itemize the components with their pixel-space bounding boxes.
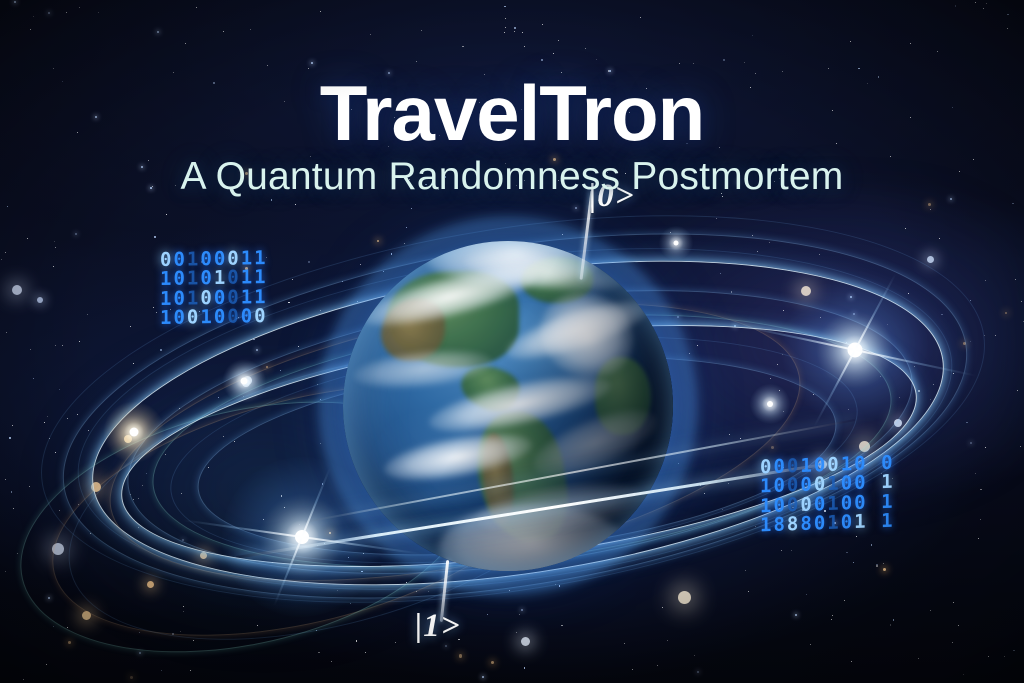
binary-digit: 8	[787, 515, 800, 535]
page-subtitle: A Quantum Randomness Postmortem	[0, 157, 1024, 196]
ket-one-label: |1>	[415, 608, 461, 645]
binary-block-right: 00010010 010000100 110000100 118880101 1	[760, 454, 895, 536]
binary-digit: 1	[160, 309, 173, 329]
binary-digit: 0	[841, 513, 854, 533]
limb-glow	[343, 241, 673, 571]
binary-row: 10010000	[160, 307, 268, 328]
binary-digit: 8	[773, 516, 786, 536]
binary-row: 18880101 1	[760, 512, 895, 536]
binary-digit: 1	[827, 514, 840, 534]
globe-sphere	[343, 241, 673, 571]
earth-globe	[343, 241, 673, 571]
binary-digit: 8	[800, 515, 813, 535]
binary-digit	[868, 512, 881, 532]
title-slide: |0> |1> 00100011101010111010001110010000…	[0, 0, 1024, 683]
binary-digit: 1	[854, 513, 867, 533]
binary-block-left: 00100011101010111010001110010000	[160, 249, 268, 328]
binary-digit: 0	[187, 308, 200, 328]
binary-digit: 1	[881, 512, 894, 532]
page-title: TravelTron	[0, 74, 1024, 152]
binary-digit: 1	[760, 516, 773, 536]
binary-digit	[868, 473, 881, 493]
binary-digit: 0	[214, 308, 227, 328]
binary-digit: 0	[173, 309, 186, 329]
binary-digit: 0	[227, 308, 240, 328]
binary-digit: 0	[254, 307, 267, 327]
binary-digit: 0	[814, 514, 827, 534]
binary-digit: 1	[200, 308, 213, 328]
binary-digit: 0	[241, 307, 254, 327]
binary-digit: 1	[187, 289, 200, 309]
binary-digit: 0	[787, 496, 800, 516]
